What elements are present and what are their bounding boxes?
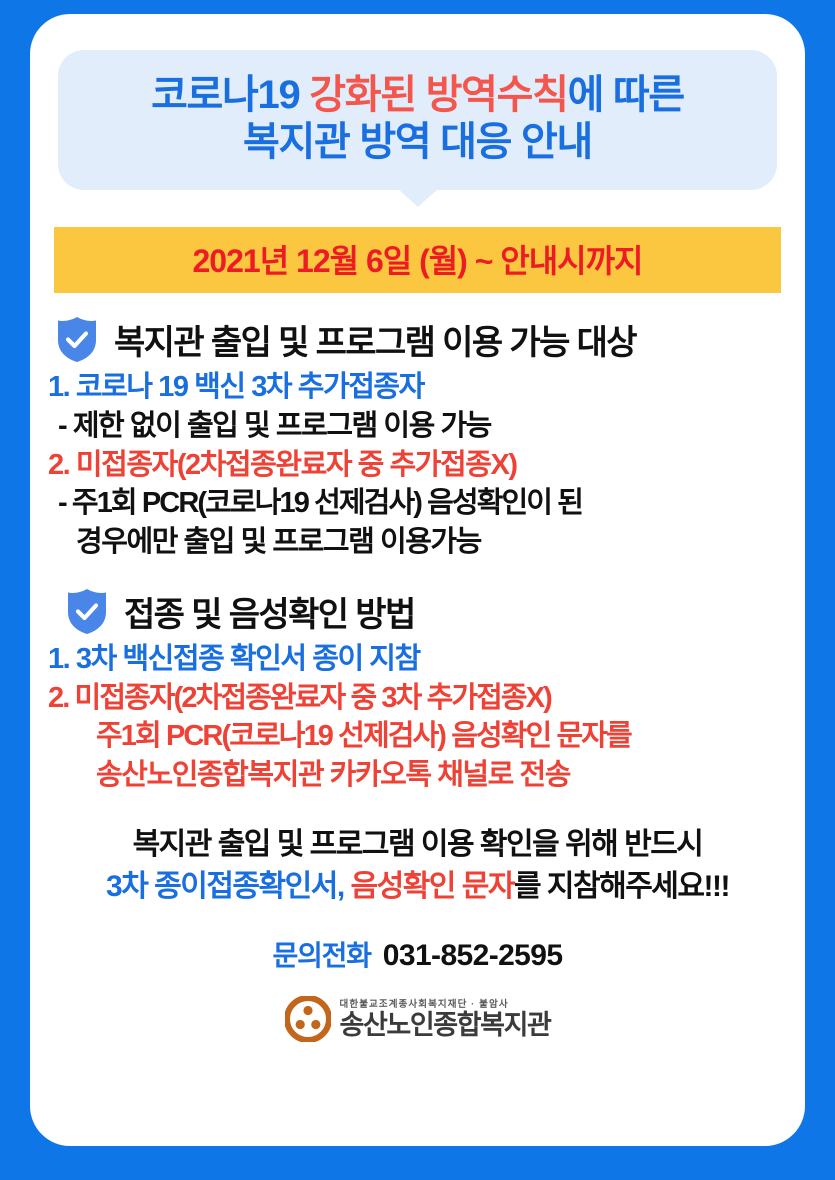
- poster-root: 코로나19 강화된 방역수칙에 따른 복지관 방역 대응 안내 2021년 12…: [0, 0, 835, 1180]
- poster-title-line-2: 복지관 방역 대응 안내: [76, 119, 759, 166]
- list-item: - 주1회 PCR(코로나19 선제검사) 음성확인이 된: [48, 484, 787, 523]
- footer-logo: 대한불교조계종사회복지재단 · 불암사 송산노인종합복지관: [30, 996, 805, 1042]
- section-1-list: 1. 코로나 19 백신 3차 추가접종자 - 제한 없이 출입 및 프로그램 …: [48, 368, 787, 561]
- closing-line-2: 3차 종이접종확인서, 음성확인 문자를 지참해주세요!!!: [30, 866, 805, 908]
- title-segment-according: 에 따른: [568, 73, 684, 117]
- poster-card: 코로나19 강화된 방역수칙에 따른 복지관 방역 대응 안내 2021년 12…: [30, 14, 805, 1146]
- contact-label: 문의전화: [273, 940, 371, 971]
- section-1-header: 복지관 출입 및 프로그램 이용 가능 대상: [56, 315, 805, 364]
- section-2-heading: 접종 및 음성확인 방법: [124, 587, 415, 636]
- contact-row: 문의전화031-852-2595: [30, 934, 805, 974]
- footer-organization-name: 송산노인종합복지관: [340, 1012, 551, 1039]
- list-item: - 제한 없이 출입 및 프로그램 이용 가능: [48, 407, 787, 446]
- title-bubble-wrapper: 코로나19 강화된 방역수칙에 따른 복지관 방역 대응 안내: [58, 50, 777, 190]
- shield-check-icon: [66, 588, 108, 635]
- poster-title-line-1: 코로나19 강화된 방역수칙에 따른: [76, 72, 759, 119]
- list-item: 1. 코로나 19 백신 3차 추가접종자: [48, 368, 787, 407]
- section-2-header: 접종 및 음성확인 방법: [66, 587, 805, 636]
- title-segment-covid: 코로나19: [151, 73, 309, 117]
- date-banner-text: 2021년 12월 6일 (월) ~ 안내시까지: [193, 243, 643, 279]
- closing-segment-negative-sms: 음성확인 문자: [344, 870, 514, 903]
- list-item: 경우에만 출입 및 프로그램 이용가능: [48, 523, 787, 562]
- list-item: 송산노인종합복지관 카카오톡 채널로 전송: [48, 756, 787, 795]
- bubble-tail: [397, 188, 439, 207]
- list-item: 2. 미접종자(2차접종완료자 중 추가접종X): [48, 446, 787, 485]
- footer-logo-text: 대한불교조계종사회복지재단 · 불암사 송산노인종합복지관: [340, 1000, 551, 1039]
- closing-line-1: 복지관 출입 및 프로그램 이용 확인을 위해 반드시: [30, 824, 805, 866]
- date-banner: 2021년 12월 6일 (월) ~ 안내시까지: [54, 227, 781, 293]
- list-item: 주1회 PCR(코로나19 선제검사) 음성확인 문자를: [48, 717, 787, 756]
- contact-phone-number[interactable]: 031-852-2595: [383, 939, 563, 972]
- section-1-heading: 복지관 출입 및 프로그램 이용 가능 대상: [114, 315, 636, 364]
- footer-tagline: 대한불교조계종사회복지재단 · 불암사: [340, 1000, 551, 1010]
- shield-check-icon: [56, 316, 98, 363]
- three-dot-circle-logo: [285, 996, 331, 1042]
- closing-message: 복지관 출입 및 프로그램 이용 확인을 위해 반드시 3차 종이접종확인서, …: [30, 824, 805, 908]
- title-bubble: 코로나19 강화된 방역수칙에 따른 복지관 방역 대응 안내: [58, 50, 777, 190]
- section-2-list: 1. 3차 백신접종 확인서 종이 지참 2. 미접종자(2차접종완료자 중 3…: [48, 640, 787, 794]
- list-item: 1. 3차 백신접종 확인서 종이 지참: [48, 640, 787, 679]
- closing-segment-bring: 를 지참해주세요!!!: [514, 870, 729, 903]
- title-segment-strengthened: 강화된 방역수칙: [309, 73, 567, 117]
- closing-segment-certificate: 3차 종이접종확인서,: [106, 870, 344, 903]
- list-item: 2. 미접종자(2차접종완료자 중 3차 추가접종X): [48, 679, 787, 718]
